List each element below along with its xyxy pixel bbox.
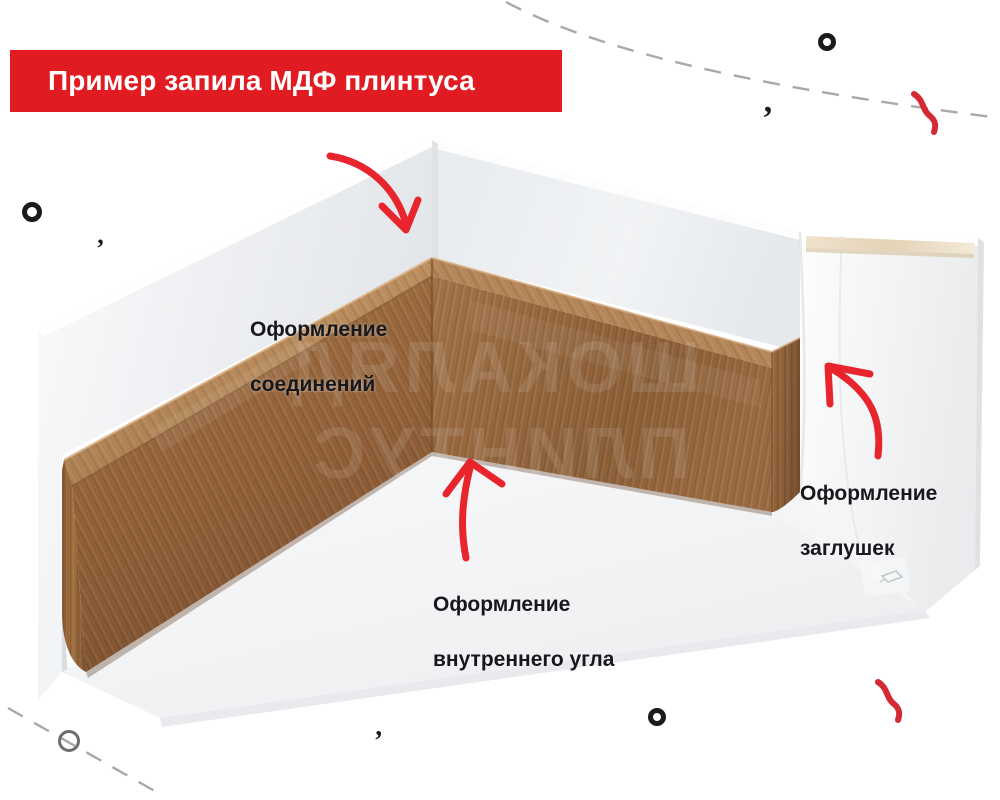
poster-canvas: ШОКАЛЯД ПЛИНТУС ’ ’ ’ Пример запила МДФ … <box>0 0 1000 800</box>
annotation-joints-line2: соединений <box>250 371 387 399</box>
annotation-end-caps: Оформление заглушек <box>800 452 937 591</box>
annotation-joints-line1: Оформление <box>250 316 387 344</box>
title-banner: Пример запила МДФ плинтуса <box>10 50 562 112</box>
annotation-end-caps-line1: Оформление <box>800 480 937 508</box>
banner-title: Пример запила МДФ плинтуса <box>48 65 475 97</box>
annotation-joints: Оформление соединений <box>250 288 387 427</box>
annotation-inner-corner-line1: Оформление <box>433 591 614 619</box>
annotation-inner-corner: Оформление внутреннего угла <box>433 563 614 702</box>
annotation-end-caps-line2: заглушек <box>800 535 937 563</box>
annotation-inner-corner-line2: внутреннего угла <box>433 646 614 674</box>
right-skirting-end <box>772 338 800 512</box>
